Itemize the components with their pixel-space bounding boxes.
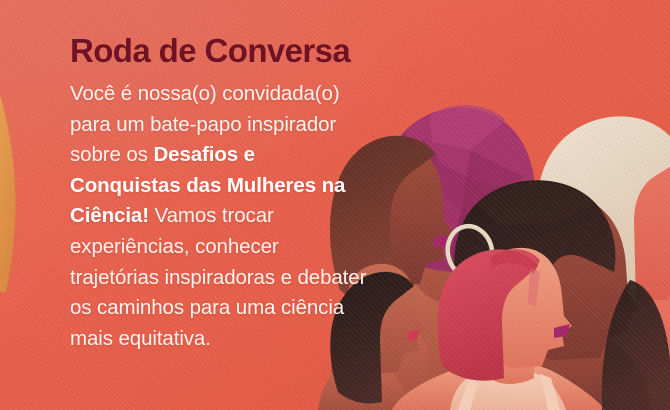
page-title: Roda de Conversa <box>70 34 370 67</box>
invitation-copy-block: Roda de Conversa Você é nossa(o) convida… <box>70 34 370 354</box>
decor-orange-crescent <box>0 95 15 292</box>
event-invitation-banner: Roda de Conversa Você é nossa(o) convida… <box>0 0 670 410</box>
invitation-body-text: Você é nossa(o) convidada(o) para um bat… <box>70 79 370 354</box>
